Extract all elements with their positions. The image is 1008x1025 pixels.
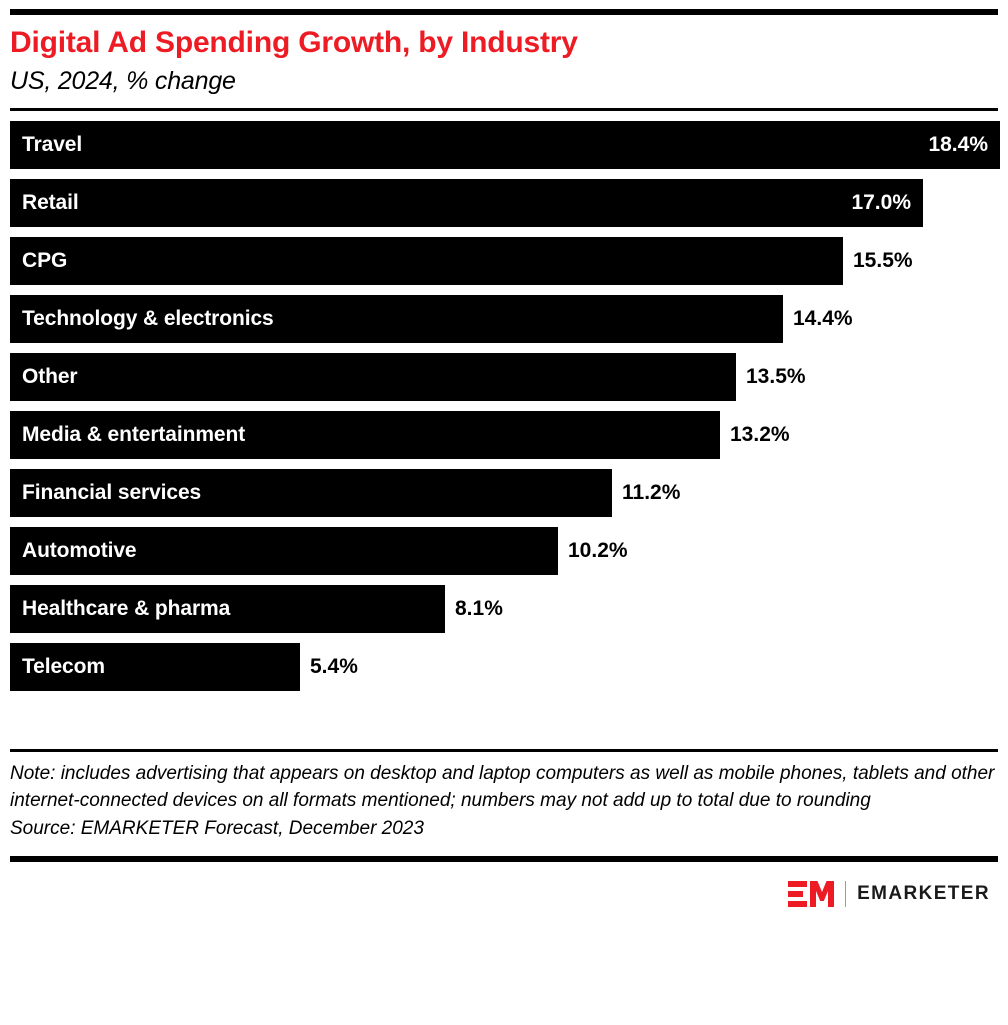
chart-source: Source: EMARKETER Forecast, December 202… — [10, 816, 998, 843]
bar-row: Travel18.4% — [10, 121, 998, 169]
bar-row: Financial services11.2% — [10, 469, 998, 517]
bar-row: Media & entertainment13.2% — [10, 411, 998, 459]
bar-category-label: Technology & electronics — [10, 307, 274, 331]
bar: CPG — [10, 237, 843, 285]
bar: Other — [10, 353, 736, 401]
bar: Automotive — [10, 527, 558, 575]
bar-value-label: 5.4% — [300, 655, 358, 679]
em-logo-icon — [788, 879, 834, 909]
bar: Technology & electronics — [10, 295, 783, 343]
bar-row: Automotive10.2% — [10, 527, 998, 575]
bar-row: Healthcare & pharma8.1% — [10, 585, 998, 633]
brand-logo: EMARKETER — [10, 879, 998, 909]
chart-page: Digital Ad Spending Growth, by Industry … — [0, 9, 1008, 1025]
bar: Healthcare & pharma — [10, 585, 445, 633]
bar-value-label: 13.2% — [720, 423, 790, 447]
bar: Telecom — [10, 643, 300, 691]
bar-value-label: 15.5% — [843, 249, 913, 273]
bar-category-label: Healthcare & pharma — [10, 597, 230, 621]
page-title: Digital Ad Spending Growth, by Industry — [10, 28, 998, 58]
page-subtitle: US, 2024, % change — [10, 69, 998, 94]
bar-value-label: 8.1% — [445, 597, 503, 621]
bar-row: Technology & electronics14.4% — [10, 295, 998, 343]
bar-category-label: Financial services — [10, 481, 201, 505]
bar: Travel18.4% — [10, 121, 1000, 169]
logo-wordmark: EMARKETER — [857, 883, 990, 905]
bar-category-label: CPG — [10, 249, 67, 273]
bar-category-label: Media & entertainment — [10, 423, 245, 447]
bar-value-label: 14.4% — [783, 307, 853, 331]
bar-chart: Travel18.4%Retail17.0%CPG15.5%Technology… — [10, 121, 998, 691]
bottom-rule — [10, 856, 998, 862]
bar-row: Telecom5.4% — [10, 643, 998, 691]
bar: Media & entertainment — [10, 411, 720, 459]
bar-row: Other13.5% — [10, 353, 998, 401]
chart-note: Note: includes advertising that appears … — [10, 761, 995, 815]
logo-divider — [845, 881, 846, 907]
bar-value-label: 13.5% — [736, 365, 806, 389]
emarketer-logo: EMARKETER — [788, 879, 990, 909]
bar-value-label: 11.2% — [612, 481, 680, 505]
bar: Retail17.0% — [10, 179, 923, 227]
bar-row: Retail17.0% — [10, 179, 998, 227]
bar-category-label: Travel — [10, 133, 82, 157]
footer-divider — [10, 749, 998, 752]
bar-category-label: Telecom — [10, 655, 105, 679]
bar-row: CPG15.5% — [10, 237, 998, 285]
bar-category-label: Retail — [10, 191, 79, 215]
bar-value-label: 18.4% — [928, 133, 988, 157]
bar: Financial services — [10, 469, 612, 517]
top-rule — [10, 9, 998, 15]
bar-value-label: 17.0% — [851, 191, 911, 215]
title-divider — [10, 108, 998, 111]
bar-value-label: 10.2% — [558, 539, 628, 563]
bar-category-label: Automotive — [10, 539, 137, 563]
bar-category-label: Other — [10, 365, 78, 389]
